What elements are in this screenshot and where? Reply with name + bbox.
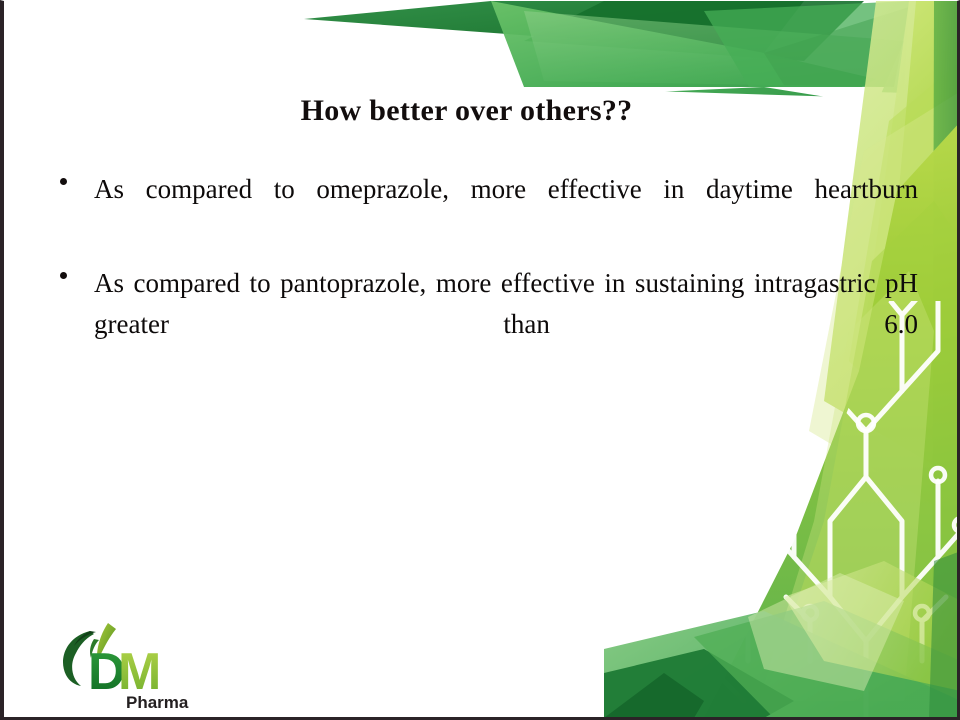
logo-subtitle: Pharma [126,693,189,712]
deco-polygon-top-dark [304,1,804,53]
deco-polygon-top-dark2 [524,1,864,61]
bullet-point-icon [60,272,67,279]
deco-polygon-bottom-shadow [604,673,704,718]
dm-pharma-logo: D M Pharma [50,613,210,713]
deco-polygon-bottom-pale [748,573,904,691]
deco-polygon-bottom-mid [604,611,960,718]
bullet-point-icon [60,178,67,185]
deco-band-edge-dark [932,1,960,720]
deco-polygon-bottom-deep [604,649,794,718]
bullet-text: As compared to omeprazole, more effectiv… [94,169,918,251]
deco-bottom-right-edge [929,551,960,718]
page-title: How better over others?? [301,93,633,129]
bullet-text: As compared to pantoprazole, more effect… [94,263,918,386]
title-container: How better over others?? [4,73,929,149]
list-item: As compared to omeprazole, more effectiv… [52,169,918,251]
deco-polygon-bottom-bright [694,601,960,718]
deco-polygon-bottom-lime [784,561,960,691]
presentation-slide: How better over others?? As compared to … [0,0,960,720]
list-item: As compared to pantoprazole, more effect… [52,263,918,386]
bullet-list: As compared to omeprazole, more effectiv… [52,169,918,398]
